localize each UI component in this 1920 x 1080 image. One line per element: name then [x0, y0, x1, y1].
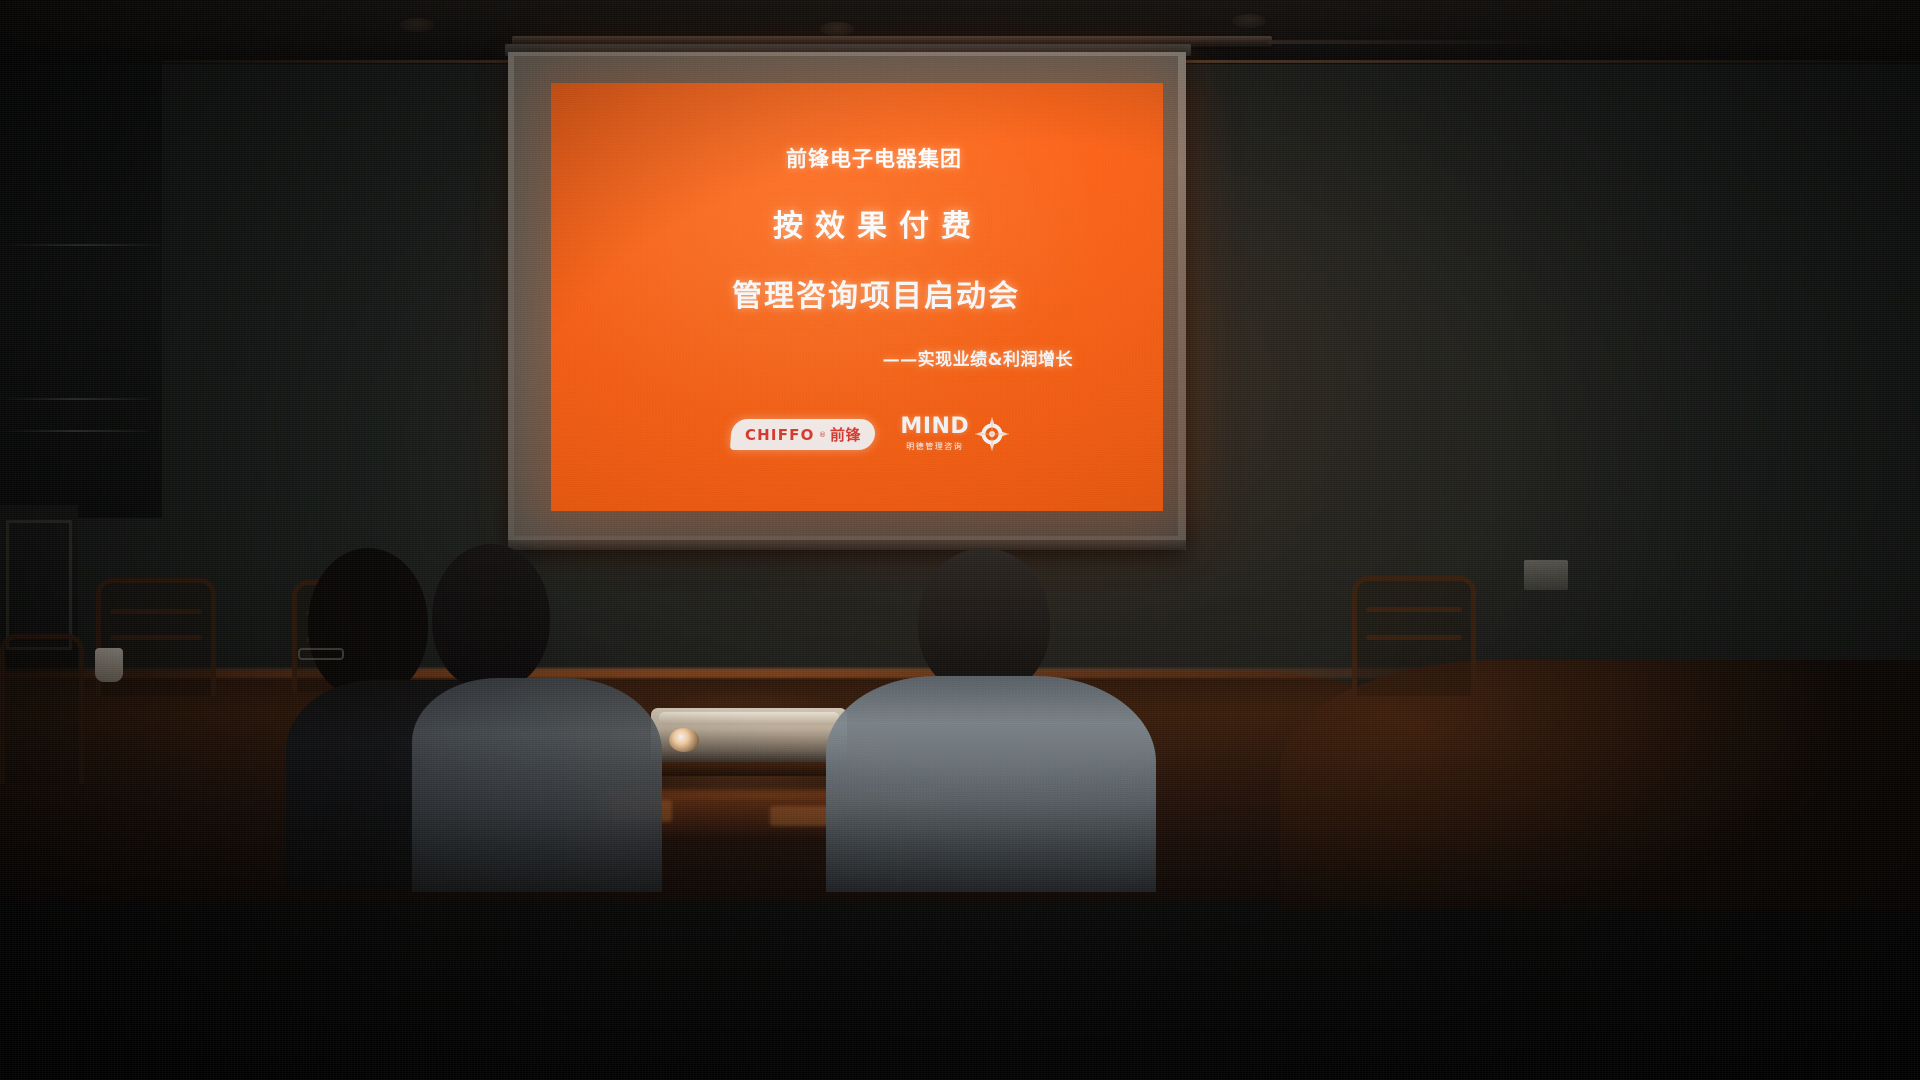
wall-cabinet-left: [0, 58, 162, 518]
chiffo-logo-chinese: 前锋: [829, 424, 860, 445]
chiffo-logo: CHIFFO ® 前锋: [730, 419, 876, 450]
slide-headline: 按效果付费: [639, 201, 1117, 245]
wall-frame-left: [6, 520, 72, 650]
slide-tagline: ——实现业绩&利润增长: [597, 345, 1117, 370]
cabinet-shelf-line: [0, 244, 160, 246]
ceiling-vent: [1232, 14, 1266, 28]
eyeglasses-icon: [298, 648, 344, 660]
conference-table: [0, 672, 1440, 902]
slide-subheadline: 管理咨询项目启动会: [635, 271, 1117, 315]
cabinet-shelf-line: [0, 430, 150, 432]
chiffo-logo-latin: CHIFFO: [745, 425, 815, 443]
ceiling-vent: [400, 18, 434, 32]
meeting-room-scene: 前锋电子电器集团 按效果付费 管理咨询项目启动会 ——实现业绩&利润增长 CHI…: [0, 0, 1920, 1080]
slide-company-line: 前锋电子电器集团: [631, 143, 1117, 173]
target-compass-icon: [975, 417, 1009, 451]
wall-fixture-right: [1524, 560, 1568, 590]
chair: [0, 634, 84, 784]
registered-mark-icon: ®: [818, 430, 825, 438]
conference-table-edge: [0, 668, 1460, 678]
slide-logo-row: CHIFFO ® 前锋 MIND 明德管理咨询: [623, 416, 1117, 452]
conference-table-right: [1280, 660, 1920, 910]
cabinet-shelf-line: [0, 398, 150, 400]
light-track-rail-extension: [1268, 40, 1568, 44]
mind-logo-chinese: 明德管理咨询: [906, 441, 963, 452]
attendee-silhouette: [424, 538, 684, 890]
chair: [1352, 576, 1476, 696]
mind-logo: MIND 明德管理咨询: [900, 416, 1009, 452]
projected-slide: 前锋电子电器集团 按效果付费 管理咨询项目启动会 ——实现业绩&利润增长 CHI…: [551, 83, 1163, 511]
mind-logo-latin: MIND: [900, 416, 969, 438]
ceiling-vent: [820, 22, 854, 36]
paper-cup: [95, 648, 123, 682]
attendee-silhouette: [826, 548, 1156, 884]
